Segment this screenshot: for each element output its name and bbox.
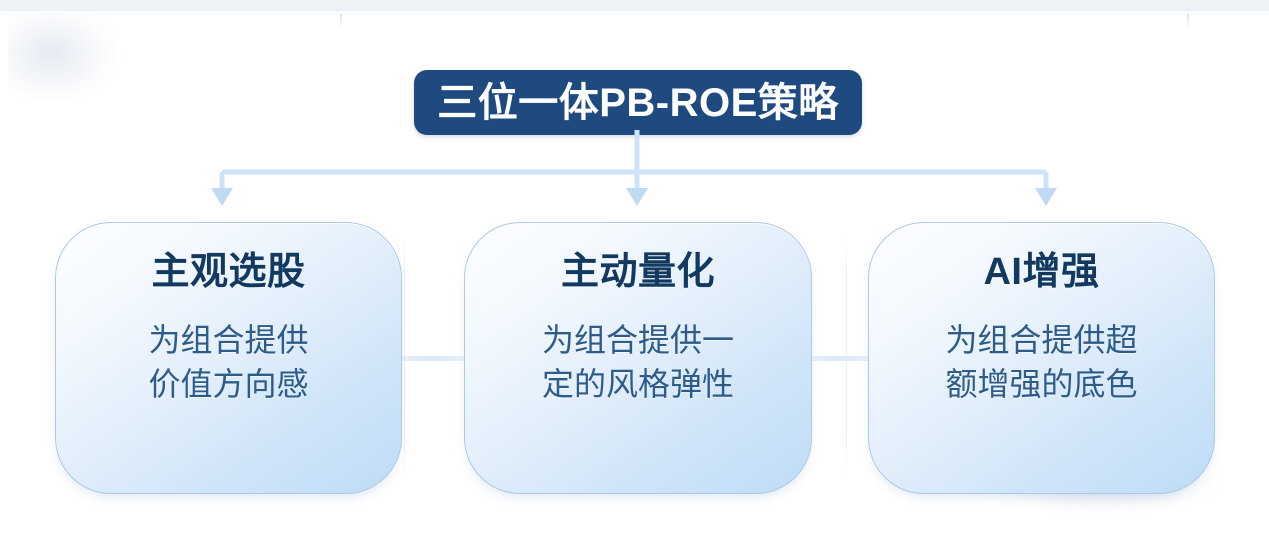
- pillar-card-description: 为组合提供一 定的风格弹性: [542, 318, 734, 408]
- diagram-title-text: 三位一体PB-ROE策略: [437, 83, 839, 123]
- pillar-card-subjective-stock-picking[interactable]: 主观选股 为组合提供 价值方向感: [55, 222, 402, 494]
- background-guide-line: [404, 230, 405, 480]
- pillar-card-active-quant[interactable]: 主动量化 为组合提供一 定的风格弹性: [464, 222, 812, 494]
- arrow-head-left: [211, 188, 233, 206]
- pillar-card-ai-enhancement[interactable]: AI增强 为组合提供超 额增强的底色: [868, 222, 1215, 494]
- arrow-head-center: [626, 188, 648, 206]
- card-link-one-two: [398, 356, 468, 361]
- diagram-title-banner: 三位一体PB-ROE策略: [414, 70, 862, 135]
- background-watermark: [8, 14, 118, 102]
- pillar-card-title: 主动量化: [561, 251, 715, 294]
- background-guide-line: [846, 230, 847, 480]
- pillar-card-description: 为组合提供超 额增强的底色: [945, 318, 1137, 408]
- background-tick-mark: [1187, 14, 1189, 30]
- background-tick-mark: [340, 14, 342, 30]
- card-link-two-three: [808, 356, 872, 361]
- pillar-card-title: 主观选股: [151, 251, 305, 294]
- pillar-card-description: 为组合提供 价值方向感: [148, 318, 308, 408]
- pillar-card-title: AI增强: [983, 251, 1099, 294]
- slide-canvas: 三位一体PB-ROE策略 主观选股 为组合提供 价值方向感 主动量化 为组合提供…: [0, 0, 1269, 544]
- connector-bracket: [0, 130, 1269, 220]
- arrow-head-right: [1035, 188, 1057, 206]
